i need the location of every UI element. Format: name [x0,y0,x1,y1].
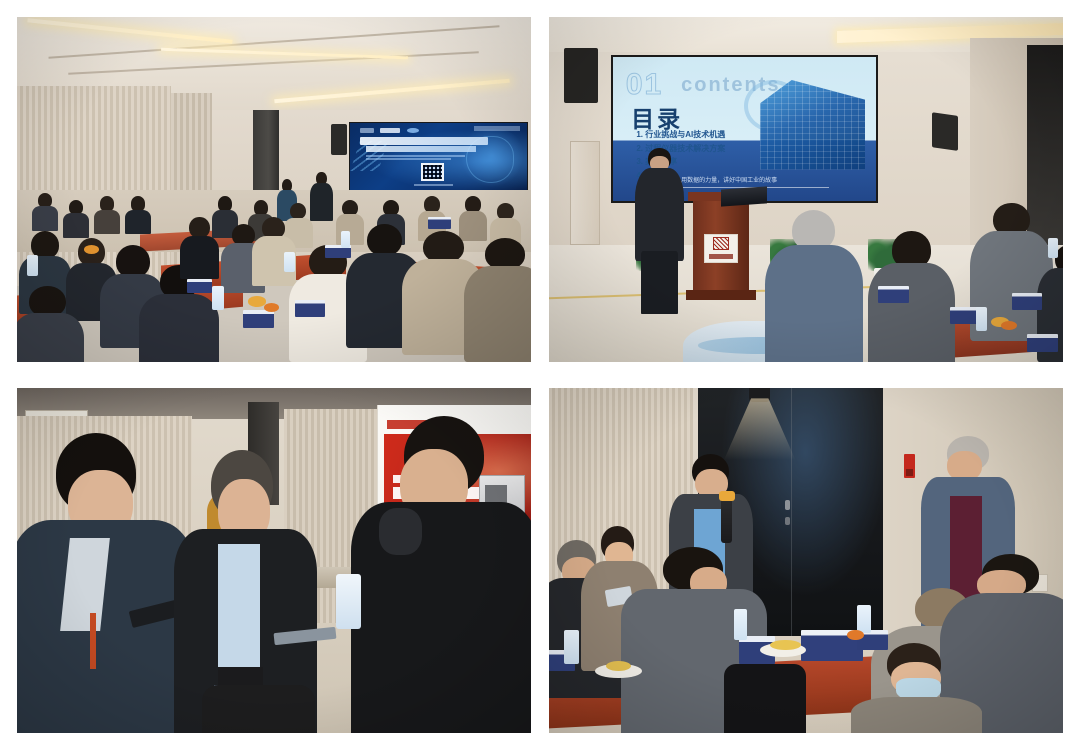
water-bottle [1048,238,1058,259]
attendee-left [22,433,176,733]
podium-laptop [721,186,767,206]
seated-attendee-masked [857,643,970,733]
sponsor-logo-1 [360,128,373,133]
door-seam [791,388,792,636]
seated-attendee [765,210,863,362]
chair-back [724,664,806,733]
photo-collage: 01 contents 目录 1. 行业挑战与AI技术机遇 2. 过程仪器技术解… [0,0,1080,750]
slide-section-number: 01 [626,68,663,102]
seated-attendee [125,196,151,234]
seated-attendee [181,217,217,279]
standing-person [310,172,333,220]
water-bottle [336,574,362,629]
podium-base [686,290,756,300]
podium-logo-plate [704,234,738,263]
orange [847,630,863,640]
photo-panel-bottom-right[interactable] [549,388,1063,733]
slide-building-graphic [760,80,865,169]
belt [218,667,262,685]
fruit [264,303,279,312]
name-card [187,279,213,293]
wall-speaker [564,48,597,103]
fruit [84,245,99,254]
banner-line-2 [366,158,451,160]
podium [693,196,750,300]
wall-speaker [932,112,958,150]
slide-agenda-item: 1. 行业挑战与AI技术机遇 [636,129,757,140]
presentation-scene: 01 contents 目录 1. 行业挑战与AI技术机遇 2. 过程仪器技术解… [549,17,1063,362]
chair-back [202,685,315,733]
lanyard [90,613,96,669]
seminar-room-wide-scene [17,17,531,362]
seated-attendee [32,193,58,231]
attendee-right [367,416,521,733]
name-card [295,300,326,317]
name-card [1012,293,1043,310]
banner-date-location [474,126,520,131]
side-door [570,141,601,245]
seated-attendee [17,286,79,362]
sponsor-logo-3 [407,128,419,133]
handheld-microphone [721,498,732,543]
sponsor-logo-2 [380,128,401,133]
sponsor-logo-row [360,126,463,134]
banana [606,661,632,671]
banner-headline-main [360,137,488,145]
podium-seal-icon [713,237,730,249]
dress-shirt [218,544,260,679]
name-card [878,286,909,303]
water-bottle [857,605,870,633]
photo-panel-top-right[interactable]: 01 contents 目录 1. 行业挑战与AI技术机遇 2. 过程仪器技术解… [549,17,1063,362]
seated-attendee [469,238,531,362]
water-bottle [976,307,987,331]
banner-headline-sub [366,146,476,152]
seated-attendee [94,196,120,234]
fruit [1001,321,1016,330]
door-handle-lower[interactable] [785,517,790,524]
water-bottle [212,286,223,310]
networking-scene [17,388,531,733]
wall-speaker [331,124,347,155]
collar [379,508,422,554]
photo-panel-bottom-left[interactable] [17,388,531,733]
water-bottle [341,231,350,248]
water-bottle [734,609,747,640]
podium-logo-text [709,254,733,260]
water-bottle [27,255,37,276]
name-card [1027,334,1058,351]
led-banner-screen [349,122,529,193]
name-card [428,217,451,229]
photo-panel-top-left[interactable] [17,17,531,362]
presenter [636,148,682,314]
door-handle[interactable] [785,500,790,510]
name-card [243,310,274,327]
fire-alarm-icon [904,454,915,478]
banner-qr-code [421,163,444,181]
slide-footer-note: 用数据的力量，讲好中国工业的故事 [681,175,777,184]
water-bottle [564,630,578,665]
banner-qr-caption [414,184,453,187]
banana [770,640,801,650]
banner-line-1 [366,155,466,157]
water-bottle [284,252,294,273]
discussion-scene [549,388,1063,733]
